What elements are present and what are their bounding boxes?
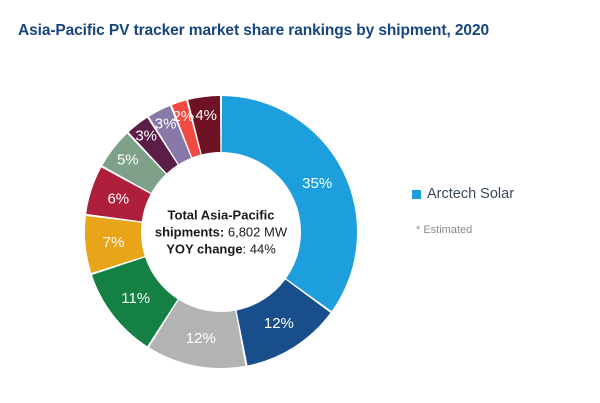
donut-slice-label: 12% (264, 315, 294, 332)
page-title: Asia-Pacific PV tracker market share ran… (18, 22, 489, 40)
footnote-estimated: * Estimated (416, 224, 472, 236)
donut-slice-label: 2% (172, 108, 194, 125)
donut-slice-label: 6% (107, 191, 129, 208)
donut-chart-svg: 35%12%12%11%7%6%5%3%3%2%4% (83, 94, 359, 370)
donut-chart: 35%12%12%11%7%6%5%3%3%2%4% Total Asia-Pa… (83, 94, 359, 370)
legend: Arctech Solar (412, 186, 592, 202)
donut-slice-label: 7% (103, 234, 125, 251)
donut-slice-label: 12% (186, 330, 216, 347)
legend-item-arctech-solar[interactable]: Arctech Solar (412, 186, 592, 202)
donut-slice-label: 35% (302, 175, 332, 192)
donut-slice[interactable] (222, 96, 357, 311)
donut-slice-label: 5% (117, 152, 139, 169)
donut-slices (85, 96, 357, 368)
donut-slice-label: 4% (195, 107, 217, 124)
legend-item-label: Arctech Solar (427, 186, 514, 202)
legend-swatch-icon (412, 190, 421, 199)
donut-slice-label: 11% (121, 290, 150, 307)
